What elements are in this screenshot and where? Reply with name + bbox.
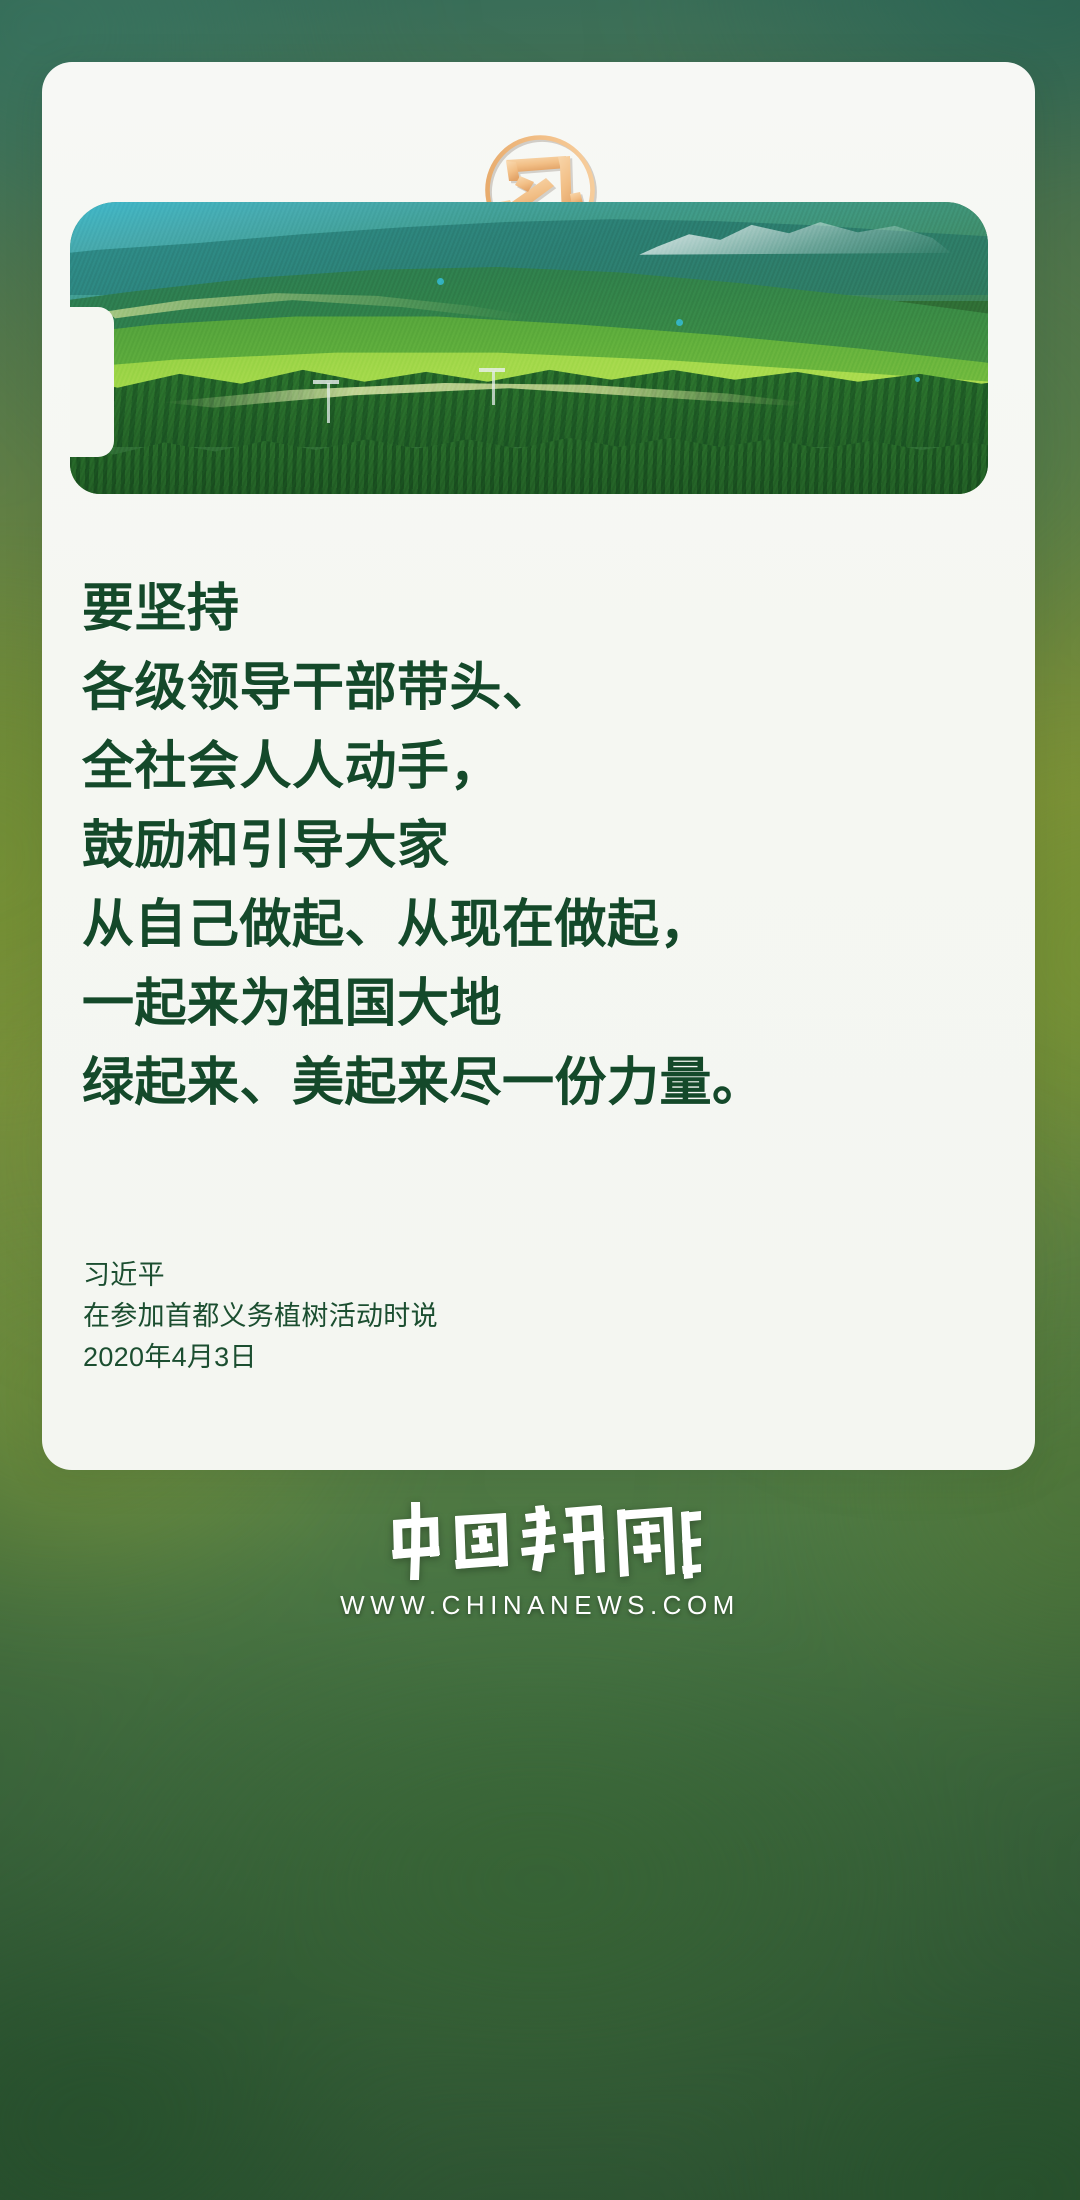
quote-line-7: 绿起来、美起来尽一份力量。 [82, 1044, 982, 1123]
chinanews-url: WWW.CHINANEWS.COM [340, 1590, 740, 1621]
landscape-photo [70, 202, 988, 494]
attribution-occasion: 在参加首都义务植树活动时说 [83, 1296, 438, 1337]
quote-line-5: 从自己做起、从现在做起， [82, 886, 982, 965]
quote-line-1: 要坚持 [82, 570, 982, 649]
quote-line-6: 一起来为祖国大地 [82, 965, 982, 1044]
photo-left-notch [70, 307, 114, 457]
quote-line-4: 鼓励和引导大家 [82, 807, 982, 886]
attribution-speaker: 习近平 [83, 1255, 438, 1296]
quote-block: 要坚持 各级领导干部带头、 全社会人人动手， 鼓励和引导大家 从自己做起、从现在… [82, 570, 982, 1123]
photo-inner [70, 202, 988, 494]
site-footer: WWW.CHINANEWS.COM [0, 1500, 1080, 1700]
photo-texture [70, 202, 988, 494]
poster-card: 要坚持 各级领导干部带头、 全社会人人动手， 鼓励和引导大家 从自己做起、从现在… [42, 62, 1035, 1470]
attribution-block: 习近平 在参加首都义务植树活动时说 2020年4月3日 [83, 1255, 438, 1378]
chinanews-logo-icon [379, 1500, 701, 1584]
quote-line-2: 各级领导干部带头、 [82, 649, 982, 728]
quote-line-3: 全社会人人动手， [82, 728, 982, 807]
attribution-date: 2020年4月3日 [83, 1337, 438, 1378]
